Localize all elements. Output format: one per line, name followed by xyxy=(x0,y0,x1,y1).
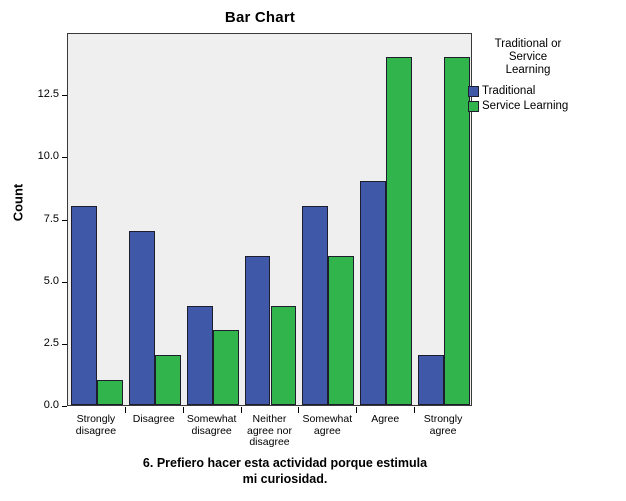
y-tick-label: 7.5 xyxy=(19,214,59,225)
legend-title-line: Service xyxy=(474,51,582,64)
legend-item-label: Traditional xyxy=(482,85,535,97)
x-tick-label-line: disagree xyxy=(235,437,305,449)
chart-caption: 6. Prefiero hacer esta actividad porque … xyxy=(55,455,515,487)
legend-swatch-icon xyxy=(468,86,479,97)
legend-item-traditional[interactable]: Traditional xyxy=(468,85,624,97)
bar-traditional xyxy=(360,181,386,405)
legend-entries: TraditionalService Learning xyxy=(468,85,624,112)
legend-title: Traditional orServiceLearning xyxy=(474,38,582,77)
y-tick-label: 0.0 xyxy=(19,400,59,411)
bar-chart-figure: Bar Chart Count 0.02.55.07.510.012.5 Str… xyxy=(0,0,626,501)
bar-traditional xyxy=(71,206,97,405)
y-tick-label: 12.5 xyxy=(19,89,59,100)
bar-traditional xyxy=(187,306,213,405)
x-tick-label-line: agree xyxy=(292,426,362,438)
plot-area xyxy=(67,33,472,406)
x-tick-mark xyxy=(298,407,299,413)
bar-service-learning xyxy=(328,256,354,405)
y-tick-label: 5.0 xyxy=(19,276,59,287)
legend-title-line: Traditional or xyxy=(474,38,582,51)
y-tick-label: 2.5 xyxy=(19,338,59,349)
x-tick-label: Stronglyagree xyxy=(408,414,478,437)
x-tick-mark xyxy=(241,407,242,413)
bar-traditional xyxy=(245,256,271,405)
bar-service-learning xyxy=(271,306,297,405)
x-tick-mark xyxy=(183,407,184,413)
bar-service-learning xyxy=(97,380,123,405)
x-tick-mark xyxy=(414,407,415,413)
y-tick-label: 10.0 xyxy=(19,151,59,162)
bar-traditional xyxy=(418,355,444,405)
chart-caption-line: mi curiosidad. xyxy=(55,471,515,487)
bars-container xyxy=(68,34,471,405)
legend-title-line: Learning xyxy=(474,64,582,77)
x-tick-label-line: Strongly xyxy=(408,414,478,426)
bar-service-learning xyxy=(386,57,412,405)
chart-caption-line: 6. Prefiero hacer esta actividad porque … xyxy=(55,455,515,471)
legend-item-label: Service Learning xyxy=(482,100,568,112)
legend-swatch-icon xyxy=(468,101,479,112)
y-axis-title: Count xyxy=(11,163,26,243)
legend: Traditional orServiceLearning Traditiona… xyxy=(468,38,624,112)
x-tick-label-line: disagree xyxy=(61,426,131,438)
x-tick-mark xyxy=(125,407,126,413)
y-tick-mark xyxy=(62,406,67,407)
bar-service-learning xyxy=(213,330,239,405)
bar-traditional xyxy=(129,231,155,405)
bar-service-learning xyxy=(155,355,181,405)
chart-title: Bar Chart xyxy=(0,9,520,26)
legend-item-service-learning[interactable]: Service Learning xyxy=(468,100,624,112)
x-tick-label-line: agree xyxy=(408,426,478,438)
x-tick-mark xyxy=(356,407,357,413)
bar-service-learning xyxy=(444,57,470,405)
bar-traditional xyxy=(302,206,328,405)
